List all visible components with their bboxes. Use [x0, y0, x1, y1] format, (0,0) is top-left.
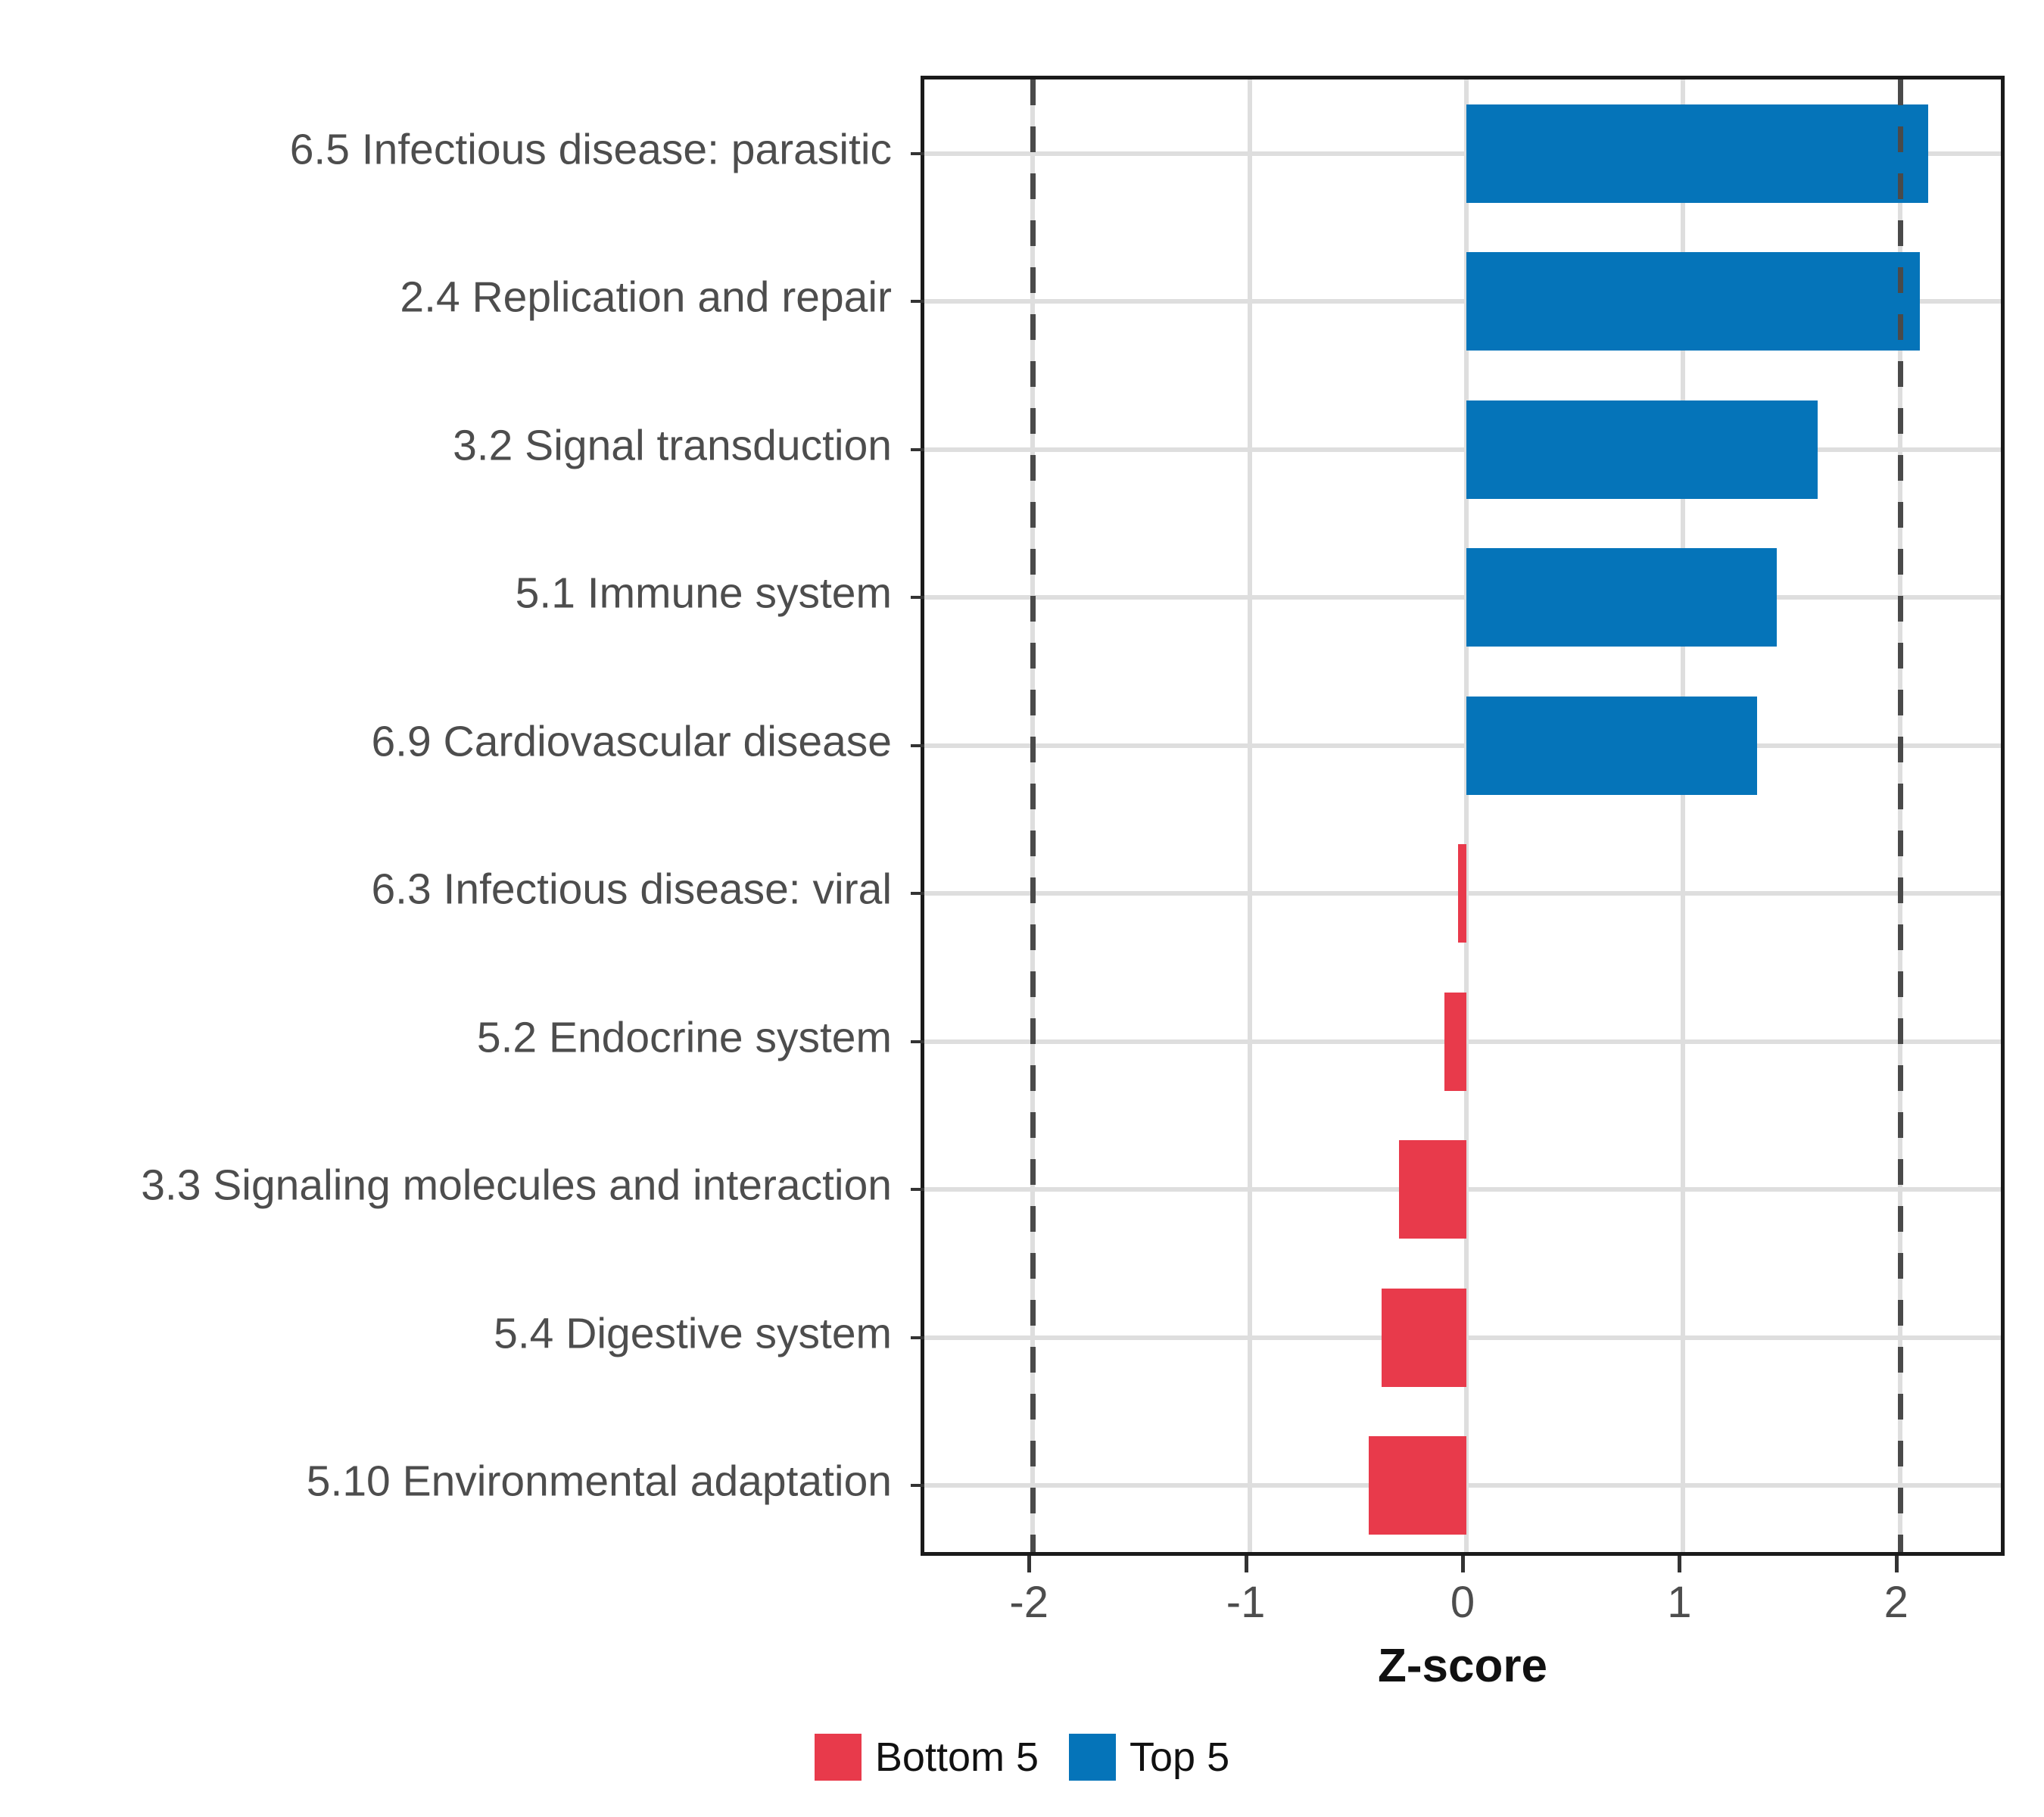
bar[interactable]	[1382, 1289, 1466, 1387]
vertical-gridline	[1248, 79, 1252, 1552]
x-axis-tick-mark	[1245, 1556, 1248, 1572]
plot-panel	[921, 76, 2005, 1556]
x-axis-tick-label: 0	[1450, 1577, 1475, 1628]
y-axis-tick-label: 3.2 Signal transduction	[453, 424, 892, 467]
reference-line	[1030, 79, 1036, 1552]
y-axis-tick-mark	[911, 1188, 924, 1191]
bar[interactable]	[1466, 252, 1920, 351]
legend-item-bottom[interactable]: Bottom 5	[815, 1734, 1039, 1781]
bar[interactable]	[1466, 400, 1818, 499]
y-axis-tick-mark	[911, 892, 924, 895]
x-axis-tick-label: -1	[1226, 1577, 1266, 1628]
legend-swatch-top-icon	[1069, 1734, 1116, 1781]
bar[interactable]	[1466, 697, 1757, 795]
legend-label-bottom: Bottom 5	[875, 1734, 1039, 1781]
bar[interactable]	[1466, 104, 1928, 203]
chart-figure: 6.5 Infectious disease: parasitic2.4 Rep…	[0, 0, 2044, 1817]
y-axis-tick-mark	[911, 300, 924, 303]
chart-legend: Bottom 5 Top 5	[0, 1734, 2044, 1781]
bar[interactable]	[1399, 1140, 1466, 1239]
y-axis-tick-label: 5.4 Digestive system	[494, 1312, 892, 1355]
bar[interactable]	[1369, 1436, 1466, 1535]
x-axis-tick-label: 2	[1884, 1577, 1908, 1628]
y-axis-tick-label: 6.5 Infectious disease: parasitic	[290, 128, 892, 171]
x-axis-tick-mark	[1895, 1556, 1899, 1572]
horizontal-gridline	[924, 743, 2001, 748]
horizontal-gridline	[924, 595, 2001, 600]
y-axis-tick-mark	[911, 1484, 924, 1487]
legend-item-top[interactable]: Top 5	[1069, 1734, 1229, 1781]
y-axis-tick-label: 6.3 Infectious disease: viral	[371, 868, 892, 912]
legend-label-top: Top 5	[1129, 1734, 1229, 1781]
y-axis-tick-label: 6.9 Cardiovascular disease	[371, 720, 892, 763]
y-axis-tick-mark	[911, 1336, 924, 1339]
bar[interactable]	[1444, 993, 1466, 1091]
plot-area	[924, 79, 2001, 1552]
x-axis-tick-mark	[1027, 1556, 1031, 1572]
y-axis-tick-label: 5.2 Endocrine system	[477, 1016, 892, 1059]
bar[interactable]	[1466, 548, 1777, 647]
x-axis-tick-mark	[1678, 1556, 1681, 1572]
legend-swatch-bottom-icon	[815, 1734, 862, 1781]
y-axis-tick-label: 5.10 Environmental adaptation	[307, 1460, 892, 1504]
y-axis-tick-mark	[911, 152, 924, 155]
bar[interactable]	[1458, 844, 1466, 943]
x-axis-tick-label: 1	[1667, 1577, 1691, 1628]
horizontal-gridline	[924, 447, 2001, 452]
y-axis-tick-mark	[911, 596, 924, 599]
reference-line	[1898, 79, 1903, 1552]
x-axis-tick-mark	[1461, 1556, 1465, 1572]
y-axis-tick-mark	[911, 1040, 924, 1043]
y-axis-tick-label: 3.3 Signaling molecules and interaction	[141, 1164, 892, 1208]
y-axis-labels: 6.5 Infectious disease: parasitic2.4 Rep…	[0, 76, 908, 1529]
y-axis-tick-mark	[911, 744, 924, 747]
y-axis-tick-label: 2.4 Replication and repair	[400, 276, 892, 319]
y-axis-tick-mark	[911, 448, 924, 451]
x-axis-title: Z-score	[921, 1639, 2005, 1693]
x-axis-tick-label: -2	[1009, 1577, 1048, 1628]
y-axis-tick-label: 5.1 Immune system	[516, 572, 892, 616]
